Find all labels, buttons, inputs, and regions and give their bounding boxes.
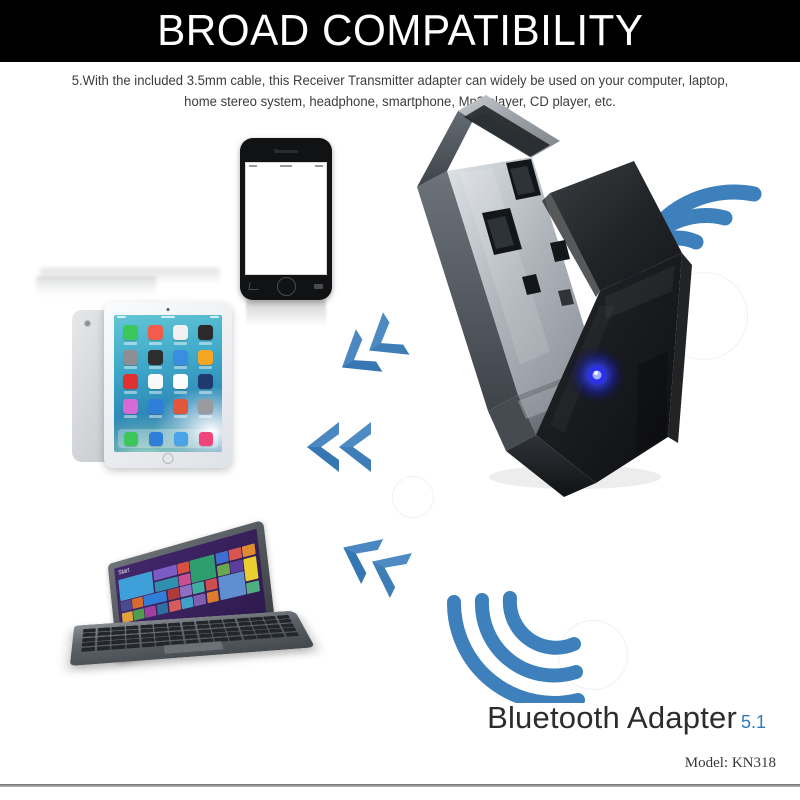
windows-tile	[229, 547, 242, 561]
tablet-app-icon	[145, 325, 166, 345]
windows-tile	[169, 599, 181, 612]
app-icon	[198, 325, 213, 340]
laptop-base	[70, 611, 315, 666]
tablet-screen	[114, 315, 222, 452]
footer-divider	[0, 784, 800, 787]
app-label	[174, 366, 187, 369]
app-label	[199, 342, 212, 345]
windows-tile	[167, 588, 179, 601]
product-model: Model: KN318	[0, 755, 788, 772]
tablet-app-icon	[170, 350, 191, 370]
windows-tile	[205, 578, 218, 591]
direction-arrow-icon	[330, 522, 417, 601]
windows-tile	[194, 593, 207, 606]
app-icon	[173, 374, 188, 389]
camera-icon	[84, 320, 91, 327]
tablet-app-icon	[120, 325, 141, 345]
app-label	[124, 391, 137, 394]
tablet-app-icon	[170, 325, 191, 345]
product-name-block: Bluetooth Adapter5.1	[0, 700, 790, 736]
phone-status-bar	[246, 163, 326, 169]
tablet-dock	[118, 429, 218, 448]
direction-arrow-icon	[305, 420, 375, 474]
app-label	[149, 391, 162, 394]
app-label	[124, 342, 137, 345]
app-label	[199, 391, 212, 394]
tablet-app-icon	[145, 350, 166, 370]
windows-tile	[242, 543, 256, 557]
windows-tile	[121, 600, 132, 612]
app-label	[174, 342, 187, 345]
app-label	[124, 415, 137, 418]
device-smartphone	[240, 138, 332, 300]
camera-icon	[167, 308, 170, 311]
phone-speaker-icon	[274, 150, 298, 153]
home-button-icon	[163, 453, 174, 464]
product-version: 5.1	[741, 712, 766, 732]
app-icon	[173, 350, 188, 365]
dock-app-icon	[174, 432, 188, 446]
phone-nav-bar	[240, 276, 332, 296]
app-icon	[123, 399, 138, 414]
app-icon	[148, 350, 163, 365]
app-icon	[198, 350, 213, 365]
tablet-app-icon	[120, 399, 141, 419]
app-label	[199, 415, 212, 418]
menu-icon	[314, 284, 323, 289]
page-title: BROAD COMPATIBILITY	[157, 9, 643, 53]
device-tablet	[72, 302, 258, 470]
app-icon	[123, 325, 138, 340]
windows-tile	[177, 561, 189, 574]
windows-start-label: Start	[118, 567, 130, 576]
app-icon	[148, 374, 163, 389]
home-button-icon	[277, 277, 296, 296]
tablet-app-icon	[195, 374, 216, 394]
tablet-app-icon	[195, 350, 216, 370]
app-icon	[148, 325, 163, 340]
tablet-app-icon	[195, 325, 216, 345]
product-info-page: BROAD COMPATIBILITY 5.With the included …	[0, 0, 800, 800]
windows-tile	[192, 581, 205, 594]
app-icon	[123, 374, 138, 389]
header-band: BROAD COMPATIBILITY	[0, 0, 800, 62]
app-icon	[123, 350, 138, 365]
tablet-app-icon	[195, 399, 216, 419]
windows-tile	[206, 590, 219, 603]
app-label	[174, 415, 187, 418]
windows-tile	[145, 605, 157, 617]
product-usb-bluetooth-adapter	[400, 65, 700, 495]
app-label	[199, 366, 212, 369]
tablet-app-icon	[120, 374, 141, 394]
windows-tile	[246, 580, 260, 594]
tablet-app-icon	[145, 374, 166, 394]
dock-app-icon	[199, 432, 213, 446]
windows-tile	[133, 608, 144, 620]
back-icon	[248, 282, 259, 290]
app-icon	[198, 374, 213, 389]
dock-app-icon	[149, 432, 163, 446]
phone-reflection	[246, 300, 326, 326]
dock-app-icon	[124, 432, 138, 446]
laptop-reflection	[40, 268, 220, 284]
app-icon	[198, 399, 213, 414]
windows-tile	[132, 597, 143, 609]
app-label	[149, 366, 162, 369]
tablet-app-icon	[170, 374, 191, 394]
phone-screen	[245, 162, 327, 275]
device-laptop: Start acer	[58, 518, 308, 688]
tablet-app-icon	[145, 399, 166, 419]
tablet-app-grid	[114, 320, 222, 418]
product-name: Bluetooth Adapter	[487, 700, 737, 735]
windows-tile	[157, 602, 169, 615]
app-icon	[173, 325, 188, 340]
app-icon	[148, 399, 163, 414]
windows-tile	[181, 596, 193, 609]
app-label	[174, 391, 187, 394]
app-icon	[173, 399, 188, 414]
windows-tile	[180, 585, 192, 598]
app-label	[149, 415, 162, 418]
app-label	[149, 342, 162, 345]
tablet-app-icon	[170, 399, 191, 419]
tablet-front	[104, 302, 232, 468]
windows-tile	[215, 551, 228, 565]
signal-waves-bottom-icon	[442, 588, 592, 703]
tablet-app-icon	[120, 350, 141, 370]
windows-tile	[218, 571, 246, 600]
windows-tile	[244, 556, 259, 582]
app-label	[124, 366, 137, 369]
